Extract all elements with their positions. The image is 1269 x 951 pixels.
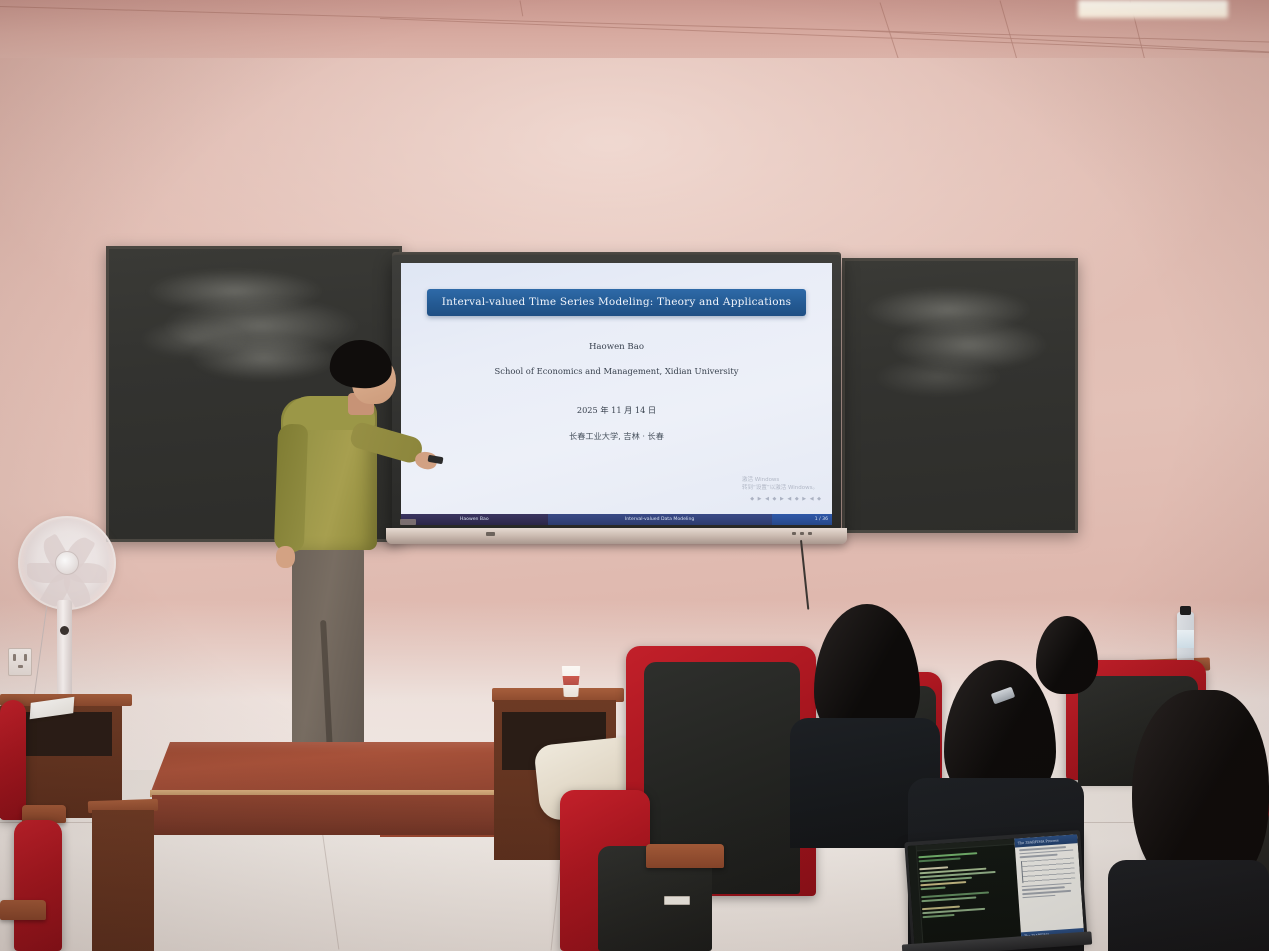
fan-hub — [55, 551, 79, 575]
windows-activation-watermark: 激活 Windows 转到“设置”以激活 Windows。 — [742, 476, 818, 493]
pdf-header-title: The 3SARFIMA Process — [1018, 838, 1059, 845]
seat-armrest-left-2 — [0, 900, 46, 920]
display-bottom-bezel — [386, 528, 847, 544]
display-power-button[interactable] — [792, 532, 796, 535]
seat-front-left[interactable] — [0, 700, 26, 820]
pdf-text-line — [1020, 854, 1058, 858]
editor-code-line — [920, 881, 966, 886]
stage-platform-face — [152, 795, 550, 835]
footer-page-number: 1 / 36 — [772, 514, 832, 525]
watermark-line-1: 激活 Windows — [742, 476, 818, 484]
pdf-viewer-pane[interactable]: The 3SARFIMA Process The 3SARFIMA — [1014, 834, 1084, 940]
fan-control-knob[interactable] — [60, 626, 69, 635]
footer-topic: Interval-valued Data Modeling — [548, 514, 772, 525]
seat-armrest-center-2 — [646, 844, 724, 868]
watermark-line-2: 转到“设置”以激活 Windows。 — [742, 484, 818, 492]
slide-title: Interval-valued Time Series Modeling: Th… — [437, 295, 796, 309]
ceiling-light-panel — [1078, 0, 1228, 18]
slide-author: Haowen Bao — [419, 342, 814, 352]
paper-cup-label — [562, 676, 580, 685]
editor-code-line — [921, 887, 946, 891]
beamer-nav-icons[interactable]: ◆ ▶ ◀ ◆ ▶ ◀ ◆ ▶ ◀ ◆ — [750, 496, 822, 502]
editor-code-lines — [918, 842, 1018, 918]
pdf-formula-block — [1021, 857, 1075, 883]
display-menu-button[interactable] — [800, 532, 804, 535]
smart-display[interactable]: Interval-valued Time Series Modeling: Th… — [392, 255, 841, 531]
slide-affiliation: School of Economics and Management, Xidi… — [419, 366, 814, 376]
slide-body: Interval-valued Time Series Modeling: Th… — [401, 263, 832, 514]
laptop-screen[interactable]: The 3SARFIMA Process The 3SARFIMA — [908, 834, 1085, 948]
water-bottle-cap — [1180, 606, 1191, 615]
desk-left-lower-panel — [92, 810, 154, 951]
wall-outlet-icon[interactable] — [8, 648, 32, 676]
stage-platform-top — [150, 742, 550, 794]
seat-front-left-lower[interactable] — [14, 820, 62, 951]
slide-date: 2025 年 11 月 14 日 — [419, 404, 814, 416]
slide-footer: Haowen Bao Interval-valued Data Modeling… — [401, 514, 832, 525]
lecture-hall-scene: Interval-valued Time Series Modeling: Th… — [0, 0, 1269, 951]
footer-author: Haowen Bao — [401, 514, 548, 525]
display-brand-plate — [400, 519, 416, 525]
attendee-3-body — [1108, 860, 1269, 951]
pdf-text-line — [1022, 894, 1055, 898]
fan-pole — [57, 600, 72, 708]
ceiling — [0, 0, 1269, 62]
blackboard-right — [842, 258, 1078, 533]
pdf-section-header: The 3SARFIMA Process — [1014, 834, 1077, 847]
pedestal-fan-icon[interactable] — [18, 516, 116, 610]
display-sensor-icon — [486, 532, 495, 536]
editor-code-line — [923, 914, 955, 918]
display-input-button[interactable] — [808, 532, 812, 535]
presenter-arm-left — [274, 424, 308, 553]
water-bottle-label — [1177, 630, 1194, 648]
code-editor-pane[interactable] — [908, 839, 1022, 948]
slide-title-bar: Interval-valued Time Series Modeling: Th… — [427, 289, 806, 316]
seat-number-tag-3 — [664, 896, 690, 905]
slide-venue: 长春工业大学, 吉林 · 长春 — [419, 430, 814, 442]
editor-code-line — [919, 857, 961, 862]
presenter-hand-left — [276, 546, 295, 568]
presentation-slide[interactable]: Interval-valued Time Series Modeling: Th… — [401, 263, 832, 525]
